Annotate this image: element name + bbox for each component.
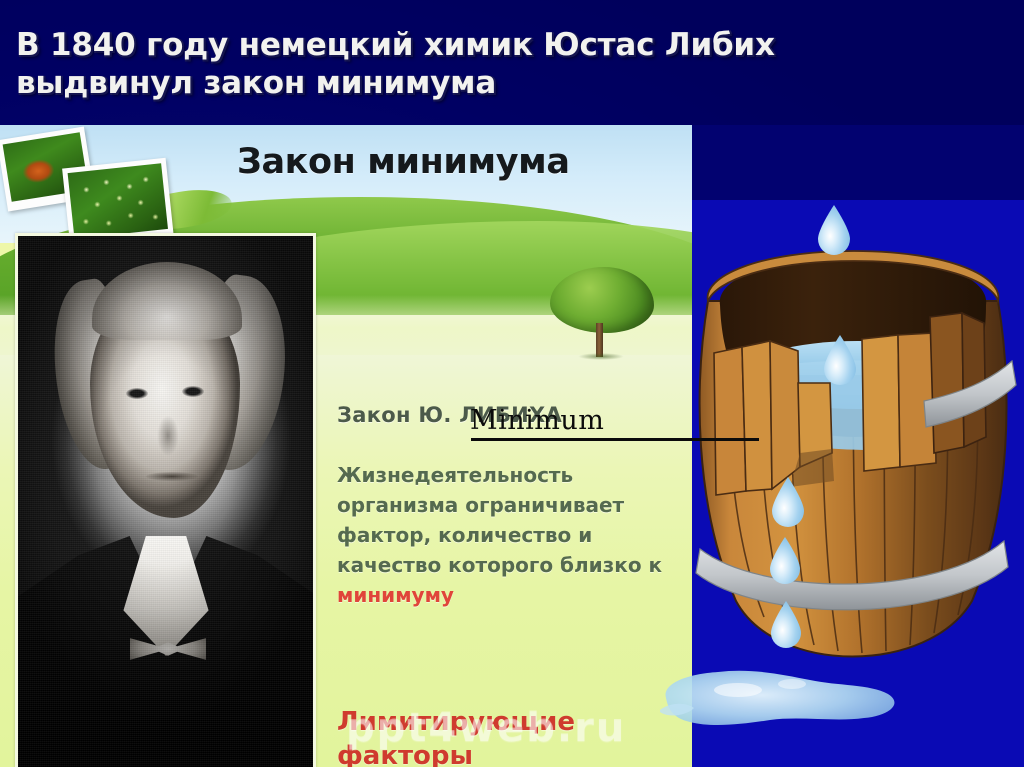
tree-trunk (596, 323, 603, 357)
tree-shadow (578, 353, 624, 360)
photo-flowers-image (68, 163, 168, 238)
puddle-highlight-2 (778, 679, 806, 689)
minimum-annotation: Minimum (470, 406, 604, 436)
portrait-grain (18, 236, 313, 767)
tree-icon (542, 267, 662, 359)
title-line-1: В 1840 году немецкий химик Юстас Либих (16, 26, 976, 64)
illustration-headline: Закон минимума (237, 142, 570, 182)
embedded-illustration: Закон минимума Закон Ю. ЛИБИХА Жизнедея (0, 125, 692, 767)
minimum-label: Minimum (470, 406, 604, 436)
presentation-slide: В 1840 году немецкий химик Юстас Либих в… (0, 0, 1024, 767)
puddle-svg (660, 650, 930, 740)
body-highlight: минимуму (337, 583, 454, 607)
puddle-shape (666, 671, 895, 725)
water-drop-top (818, 205, 850, 255)
barrel-illustration (672, 205, 1024, 685)
barrel-svg (672, 205, 1024, 685)
watermark: ppt4web.ru (346, 705, 626, 751)
spilled-water-puddle (660, 650, 930, 740)
background-panel-upper (692, 125, 1024, 200)
portrait-frame (15, 233, 316, 767)
puddle-highlight (714, 683, 762, 697)
illustration-body-text: Жизнедеятельность организма ограничивает… (337, 460, 667, 610)
slide-title: В 1840 году немецкий химик Юстас Либих в… (16, 26, 976, 102)
portrait-justus-von-liebig (18, 236, 313, 767)
title-line-2: выдвинул закон минимума (16, 64, 976, 102)
body-prefix: Жизнедеятельность организма ограничивает… (337, 463, 662, 577)
minimum-leader-line (471, 438, 759, 441)
